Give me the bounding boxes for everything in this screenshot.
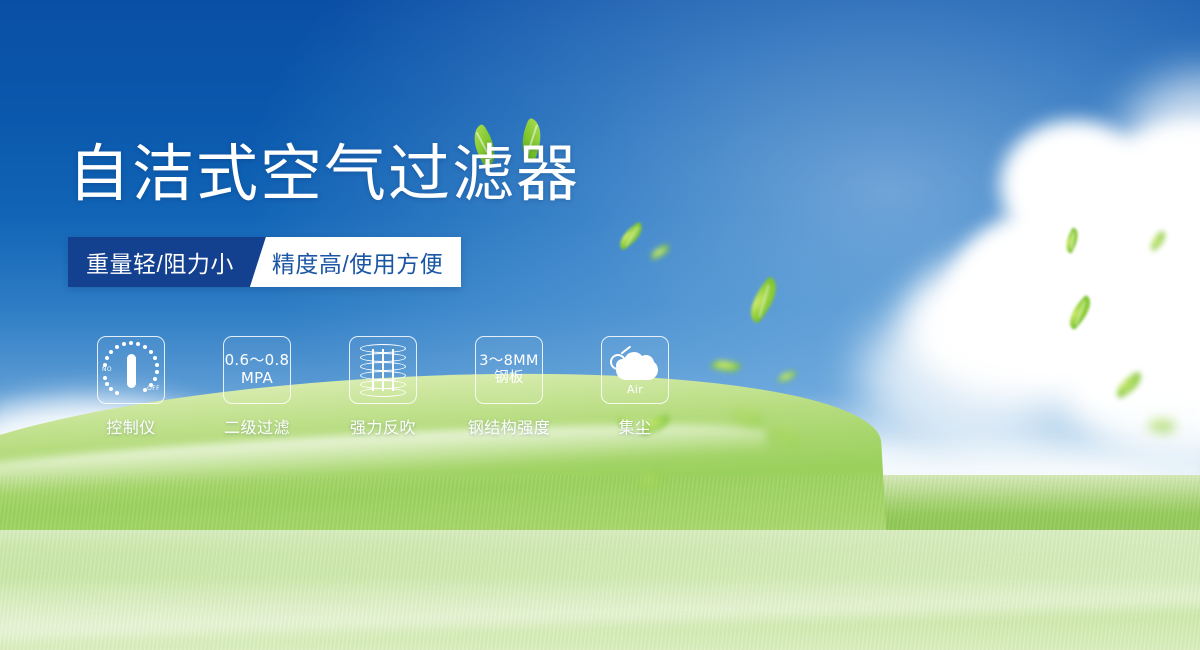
feature-list: NO OFF <box>68 336 698 438</box>
feature-icon-box: 0.6～0.8 MPA <box>223 336 291 404</box>
feature-item-steel: 3～8MM 钢板 钢结构强度 <box>446 336 572 438</box>
pressure-line-2: MPA <box>225 370 290 388</box>
subtitle-right-panel: 精度高/使用方便 <box>250 237 461 287</box>
feature-item-dust: Air 集尘 <box>572 336 698 438</box>
pressure-text-icon: 0.6～0.8 MPA <box>225 352 290 387</box>
gauge-on-label: NO <box>102 366 112 373</box>
air-cloud-icon: Air <box>608 346 662 394</box>
feature-icon-box: Air <box>601 336 669 404</box>
feature-item-backblow: 强力反吹 <box>320 336 446 438</box>
feature-label: 控制仪 <box>106 414 156 438</box>
steel-line-1: 3～8MM <box>479 353 538 370</box>
product-hero-banner: 自洁式空气过滤器 重量轻/阻力小 精度高/使用方便 NO OFF <box>0 0 1200 650</box>
air-label: Air <box>608 383 662 396</box>
steel-plate-text-icon: 3～8MM 钢板 <box>479 353 538 387</box>
feature-item-pressure: 0.6～0.8 MPA 二级过滤 <box>194 336 320 438</box>
pressure-line-1: 0.6～0.8 <box>225 352 290 370</box>
feature-item-controller: NO OFF <box>68 336 194 438</box>
feature-icon-box <box>349 336 417 404</box>
filter-cartridge-icon <box>360 344 406 396</box>
feature-label: 二级过滤 <box>224 414 290 438</box>
feature-label: 集尘 <box>618 414 651 438</box>
gauge-needle <box>127 354 136 388</box>
page-title: 自洁式空气过滤器 <box>68 143 580 205</box>
subtitle-bar: 重量轻/阻力小 精度高/使用方便 <box>68 237 461 287</box>
steel-line-2: 钢板 <box>479 370 538 387</box>
feature-icon-box: 3～8MM 钢板 <box>475 336 543 404</box>
feature-label: 强力反吹 <box>350 414 416 438</box>
feature-icon-box: NO OFF <box>97 336 165 404</box>
subtitle-left-panel: 重量轻/阻力小 <box>68 237 266 287</box>
gauge-icon: NO OFF <box>103 342 159 398</box>
feature-label: 钢结构强度 <box>468 414 551 438</box>
